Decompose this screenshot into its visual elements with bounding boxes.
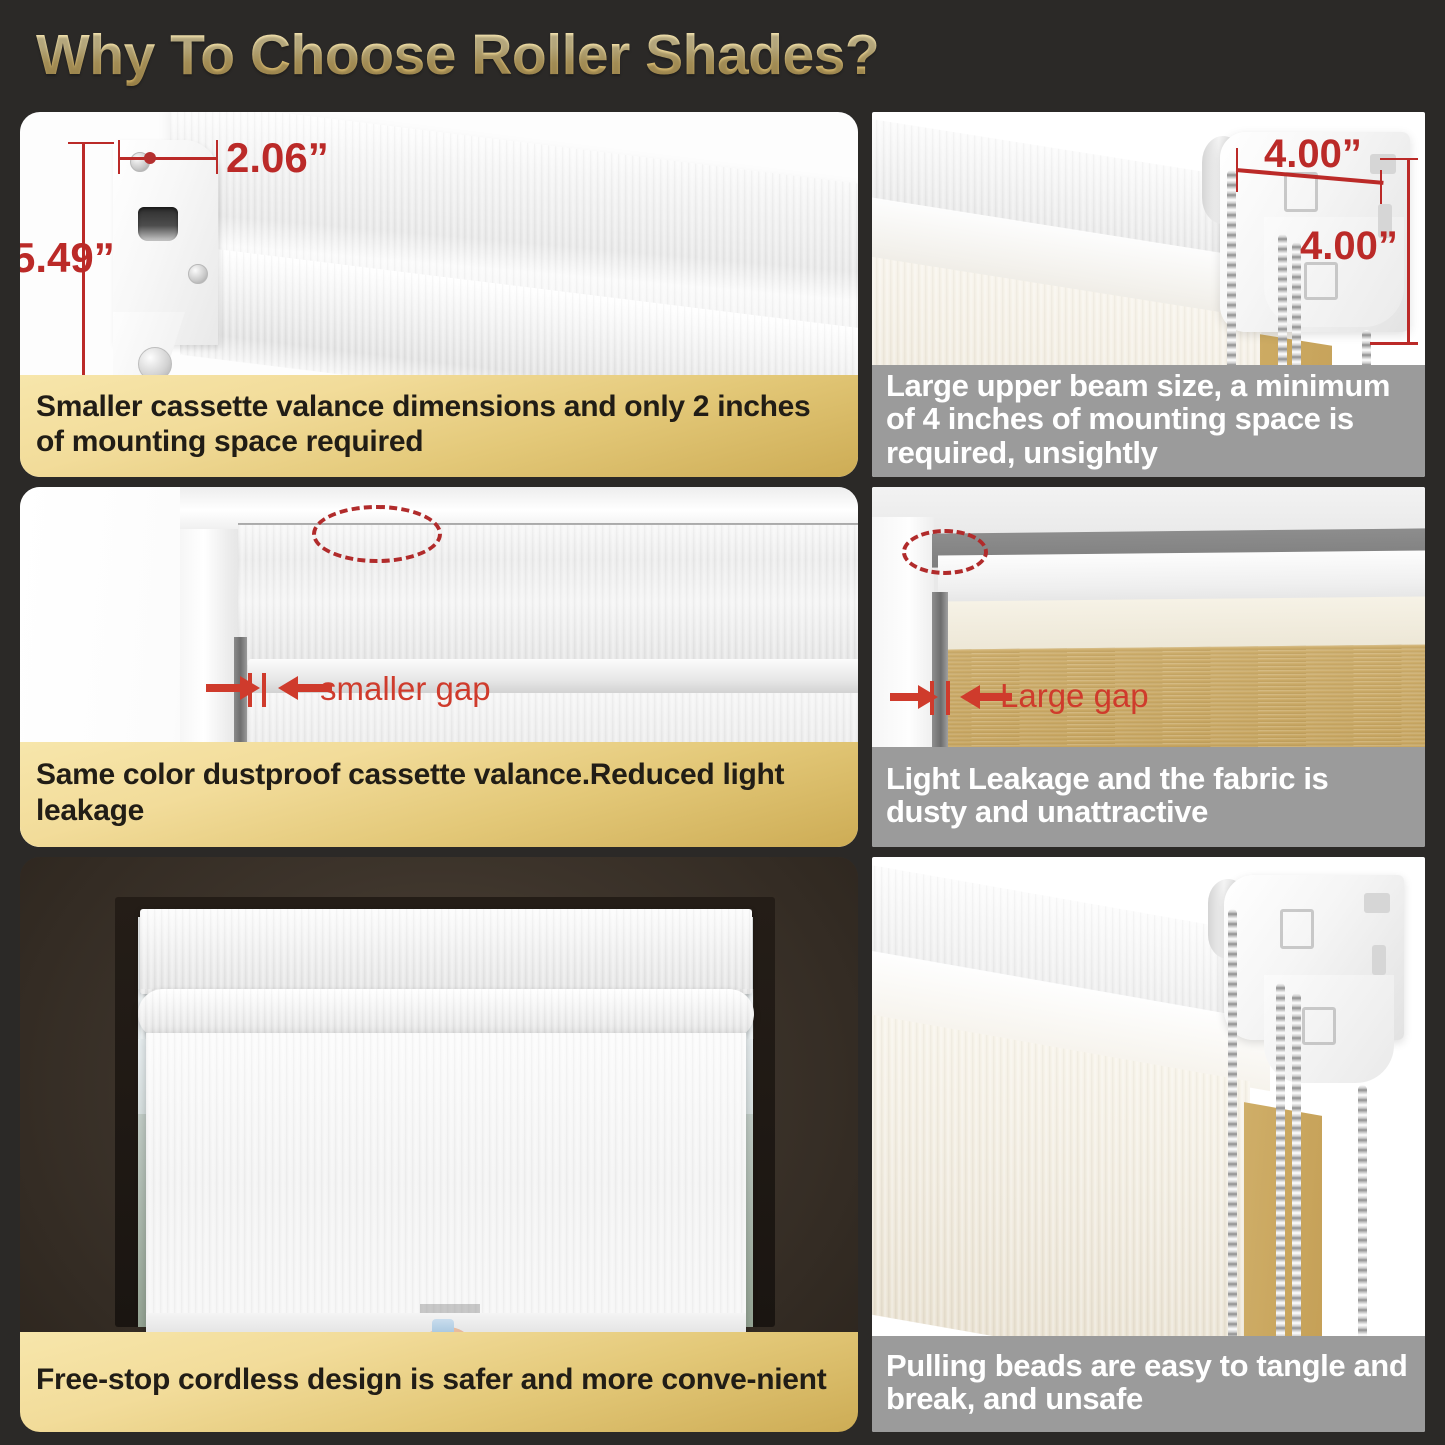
gap-arrow-right-icon [272, 670, 362, 710]
roller-texture [138, 989, 754, 1039]
caption-large-upper-beam: Large upper beam size, a minimum of 4 in… [872, 365, 1425, 477]
height-dimension-label: 5.49” [20, 234, 115, 282]
beam-width-tick-right [1380, 170, 1382, 204]
caption-dustproof-cassette-valance: Same color dustproof cassette valance.Re… [20, 742, 858, 847]
height-dim-tick-top [68, 142, 114, 144]
bracket-notch-2 [1372, 945, 1386, 975]
shade-fabric [146, 1033, 746, 1333]
gap-arrow-right-icon [954, 679, 1044, 719]
panel-cassette-valance-dimensions: 2.06” 5.49” Smaller cassette valance dim… [20, 112, 858, 477]
bracket-emboss-lower [1302, 1007, 1336, 1045]
valance-slot-opening [138, 207, 178, 241]
caption-cassette-valance-dimensions: Smaller cassette valance dimensions and … [20, 375, 858, 477]
panel-large-upper-beam: 4.00” 4.00” Large upper beam size, a min… [872, 112, 1425, 477]
bracket-emboss-upper [1280, 909, 1314, 949]
beam-width-label: 4.00” [1264, 132, 1362, 177]
shade-fabric-texture [146, 1033, 746, 1333]
caption-pulling-beads-unsafe: Pulling beads are easy to tangle and bre… [872, 1336, 1425, 1432]
beam-height-label: 4.00” [1300, 224, 1398, 269]
beam-height-tick-top [1380, 158, 1418, 160]
beam-height-tick-bottom [1370, 342, 1418, 345]
shade-headrail [140, 909, 752, 994]
roller-tube [138, 989, 754, 1039]
caption-free-stop-cordless-design: Free-stop cordless design is safer and m… [20, 1332, 858, 1432]
brand-mark [420, 1304, 480, 1313]
beam-height-line [1407, 158, 1410, 344]
panel-pulling-beads-unsafe: Pulling beads are easy to tangle and bre… [872, 857, 1425, 1432]
mounting-screw-mid [188, 264, 208, 284]
bracket-notch-1 [1370, 154, 1396, 174]
highlight-ellipse-icon [312, 505, 442, 563]
width-dim-line [118, 157, 218, 160]
width-dim-dot [144, 152, 156, 164]
width-dimension-label: 2.06” [226, 134, 329, 182]
panel-light-leakage-dusty-fabric: Large gap Light Leakage and the fabric i… [872, 487, 1425, 847]
caption-light-leakage-dusty-fabric: Light Leakage and the fabric is dusty an… [872, 747, 1425, 847]
panel-dustproof-cassette-valance: smaller gap Same color dustproof cassett… [20, 487, 858, 847]
headrail-texture [140, 909, 752, 994]
bracket-notch-1 [1364, 893, 1390, 913]
panel-free-stop-cordless-design: Free-stop cordless design is safer and m… [20, 857, 858, 1432]
highlight-ellipse-icon [902, 529, 988, 575]
comparison-grid: 2.06” 5.49” Smaller cassette valance dim… [0, 0, 1445, 1445]
